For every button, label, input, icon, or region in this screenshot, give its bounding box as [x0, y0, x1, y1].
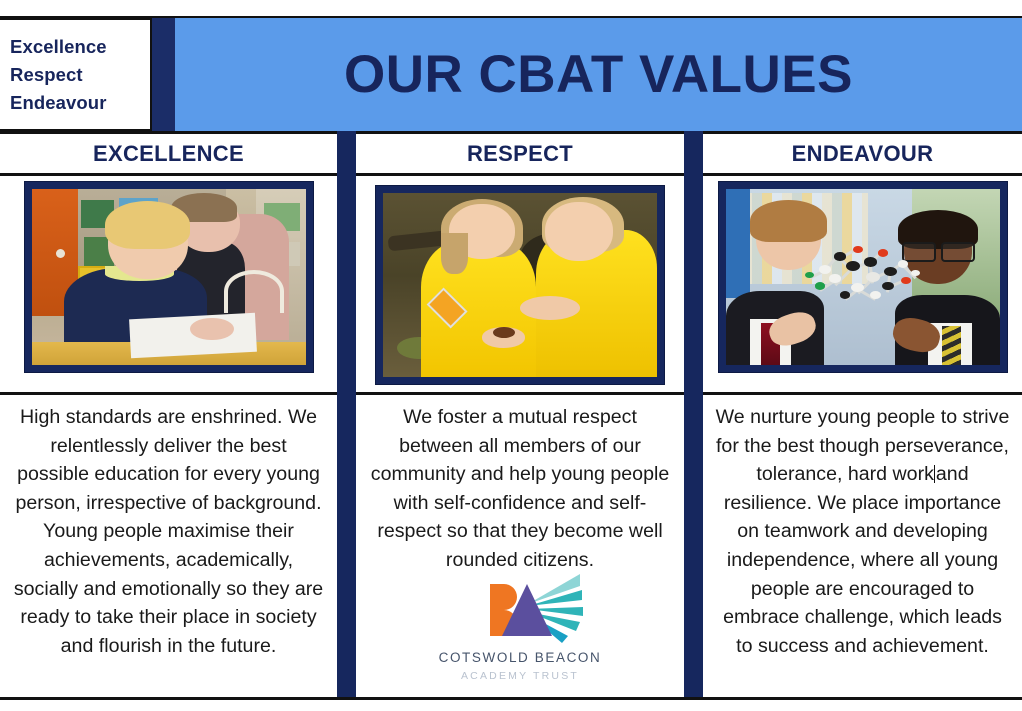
cbat-logo-mark — [456, 570, 584, 648]
molecule-atom — [840, 291, 850, 298]
letter-c-icon — [468, 584, 492, 632]
molecule-atom — [866, 272, 880, 282]
text-cell-excellence: High standards are enshrined. We relentl… — [0, 395, 337, 697]
motto-separator-bar — [152, 18, 175, 131]
column-heading-row: EXCELLENCE RESPECT ENDEAVOUR — [0, 134, 1022, 173]
photo1-bag-handle — [224, 270, 284, 313]
photo3-molecular-model — [802, 238, 928, 330]
molecule-atom — [834, 252, 845, 260]
motto-line-respect: Respect — [10, 61, 150, 89]
molecule-atom — [870, 291, 881, 299]
molecule-atom — [805, 272, 814, 278]
molecule-atom — [884, 267, 897, 276]
photo-frame-excellence — [24, 181, 314, 373]
photo-endeavour — [726, 189, 1000, 365]
photo-frame-respect — [375, 185, 665, 385]
molecule-atom — [829, 274, 840, 282]
text-cell-endeavour: We nurture young people to strive for th… — [703, 395, 1022, 697]
molecule-atom — [853, 246, 863, 253]
divider-bottom — [0, 697, 1022, 700]
cbat-logo-svg — [456, 570, 584, 648]
photo2-girl2-head — [545, 202, 614, 261]
photo1-pupil-hair — [105, 201, 190, 249]
molecule-atom — [878, 249, 888, 256]
photo-cell-endeavour — [703, 176, 1022, 392]
column-heading-respect: RESPECT — [356, 134, 684, 173]
photo-cell-excellence — [0, 176, 337, 392]
motto-box: Excellence Respect Endeavour — [0, 18, 152, 131]
molecule-atom — [815, 282, 825, 289]
cbat-logo: COTSWOLD BEACON ACADEMY TRUST — [356, 570, 684, 688]
body-text-excellence: High standards are enshrined. We relentl… — [12, 403, 325, 660]
photo3-student1-hair — [750, 200, 827, 242]
photo-frame-endeavour — [718, 181, 1008, 373]
column-heading-excellence: EXCELLENCE — [0, 134, 337, 173]
photo1-teacher-hand — [190, 318, 234, 341]
body-text-respect: We foster a mutual respect between all m… — [370, 403, 670, 575]
molecule-atom — [898, 260, 908, 267]
photo-respect — [383, 193, 657, 377]
page-title: OUR CBAT VALUES — [344, 44, 853, 105]
molecule-atom — [846, 261, 860, 271]
body-text-endeavour-part2: and resilience. We place importance on t… — [723, 463, 1002, 657]
molecule-atom — [901, 277, 911, 284]
column-divider-2 — [684, 131, 703, 697]
column-divider-1 — [337, 131, 356, 697]
motto-line-excellence: Excellence — [10, 33, 150, 61]
motto-line-endeavour: Endeavour — [10, 89, 150, 117]
photo-cell-respect — [356, 176, 684, 392]
photo-excellence — [32, 189, 306, 365]
molecule-atom — [882, 282, 893, 290]
photo3-student2-tie — [942, 326, 961, 365]
photo3-glasses-right-lens — [941, 242, 975, 262]
photo3-blue-wall-panel — [726, 189, 751, 298]
cbat-values-poster: Excellence Respect Endeavour OUR CBAT VA… — [0, 0, 1022, 711]
title-banner: OUR CBAT VALUES — [175, 18, 1022, 131]
photo1-door-handle — [56, 249, 65, 258]
cbat-logo-name: COTSWOLD BEACON — [439, 650, 602, 665]
molecule-atom — [911, 270, 920, 276]
body-text-endeavour: We nurture young people to strive for th… — [715, 403, 1010, 660]
photo2-girl2-arm — [520, 296, 580, 320]
molecule-atom — [819, 265, 832, 274]
photo2-girl1-hair-strand — [441, 233, 468, 273]
cbat-logo-subtitle: ACADEMY TRUST — [461, 670, 579, 682]
molecule-atom — [864, 257, 877, 266]
banner-row: Excellence Respect Endeavour OUR CBAT VA… — [0, 18, 1022, 131]
column-heading-endeavour: ENDEAVOUR — [703, 134, 1022, 173]
